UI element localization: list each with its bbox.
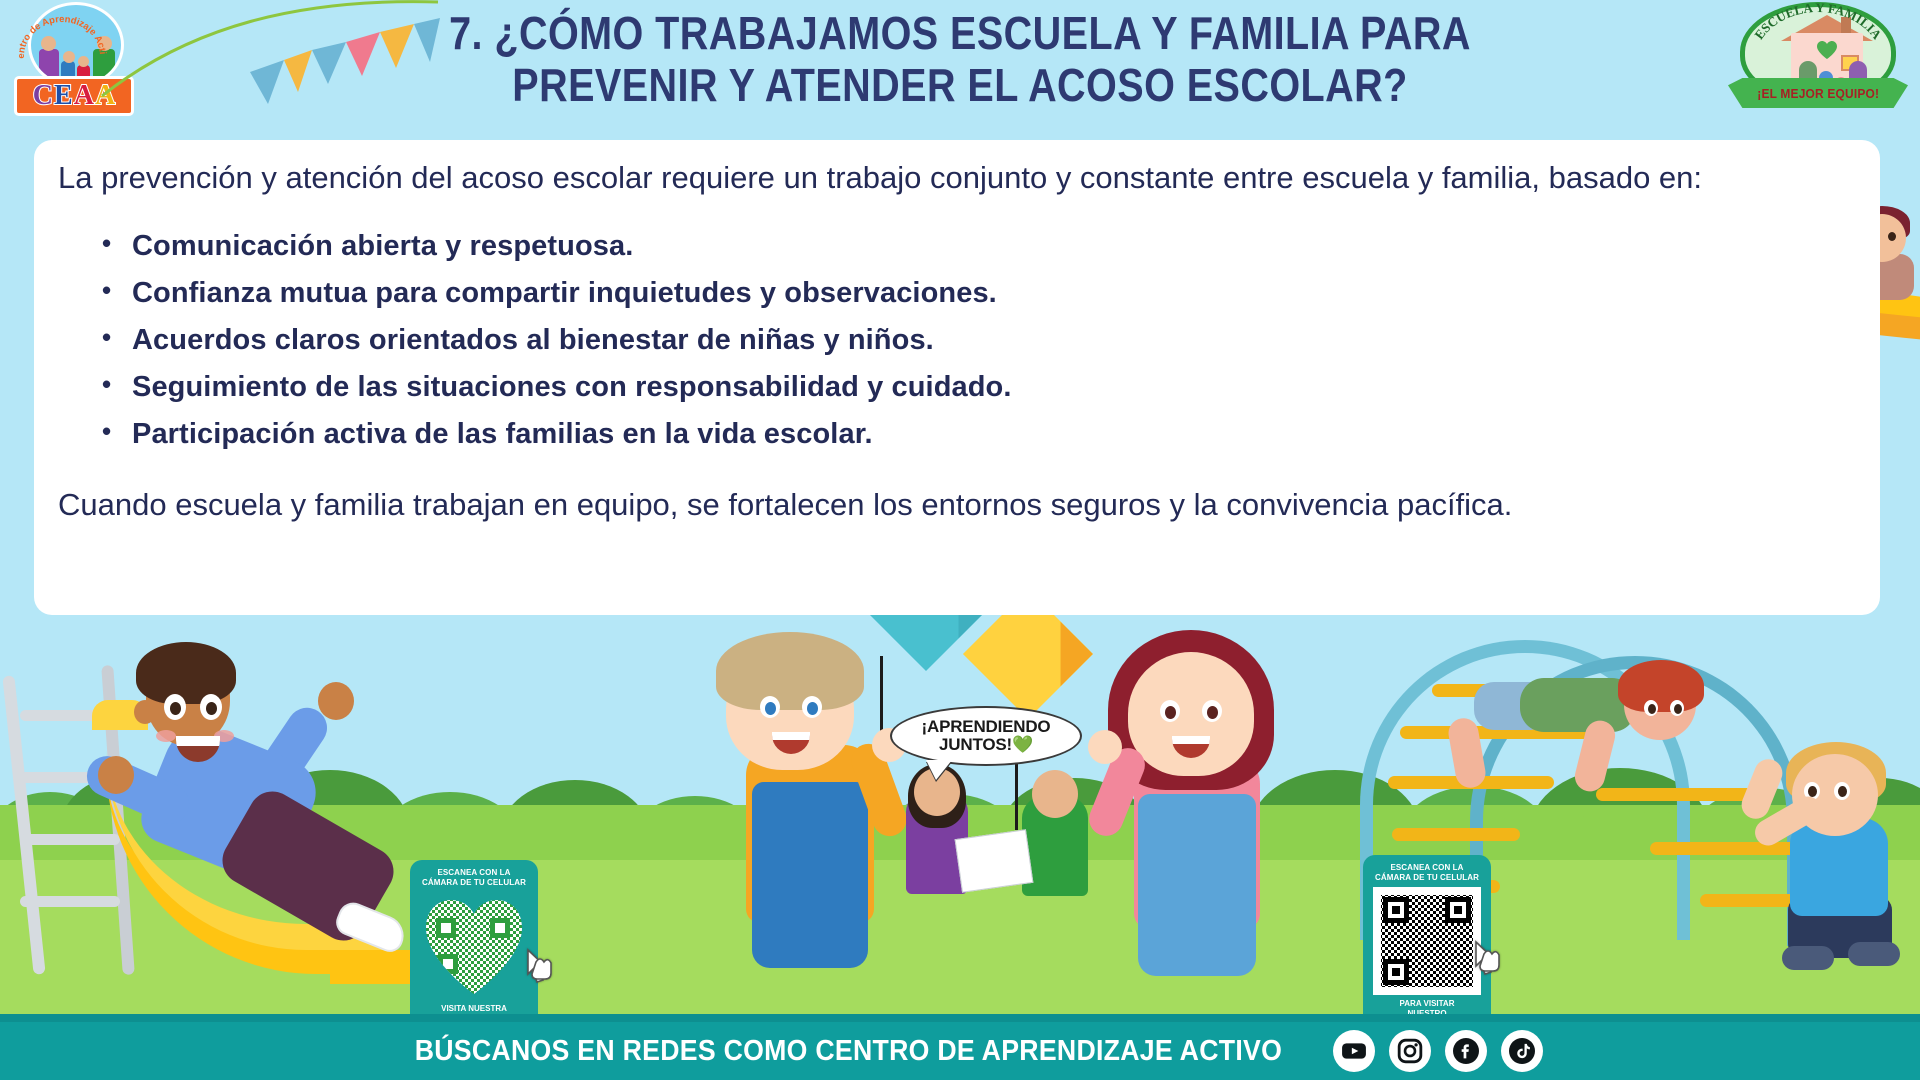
list-item: Participación activa de las familias en … [102, 420, 1856, 449]
cursor-pointer-icon-left [522, 948, 556, 990]
ceaa-letter-a1: A [74, 82, 94, 110]
teacher-pair [900, 768, 1110, 898]
intro-paragraph: La prevención y atención del acoso escol… [58, 158, 1856, 198]
list-item: Acuerdos claros orientados al bienestar … [102, 326, 1856, 355]
footer-text: BÚSCANOS EN REDES COMO CENTRO DE APRENDI… [414, 1035, 1281, 1068]
list-item: Confianza mutua para compartir inquietud… [102, 279, 1856, 308]
playground-illustration: ¡APRENDIENDO JUNTOS!💚 [0, 560, 1920, 1080]
content-card: La prevención y atención del acoso escol… [34, 140, 1880, 615]
bunting-decoration [100, 0, 440, 110]
title-line-2: PREVENIR Y ATENDER EL ACOSO ESCOLAR? [392, 60, 1527, 112]
qr-left-caption-line1: VISITA NUESTRA [416, 1004, 532, 1014]
escuela-y-familia-logo: ESCUELA Y FAMILIA ¡EL MEJOR EQUIPO! [1728, 2, 1908, 114]
list-item: Comunicación abierta y respetuosa. [102, 232, 1856, 261]
qr-right-instruction-line2: CÁMARA DE TU CELULAR [1369, 873, 1485, 883]
eyf-ribbon: ¡EL MEJOR EQUIPO! [1728, 78, 1908, 108]
page-title: 7. ¿CÓMO TRABAJAMOS ESCUELA Y FAMILIA PA… [392, 8, 1527, 111]
closing-paragraph: Cuando escuela y familia trabajan en equ… [58, 485, 1856, 525]
title-line-1: 7. ¿CÓMO TRABAJAMOS ESCUELA Y FAMILIA PA… [392, 8, 1527, 60]
qr-code-icon[interactable] [1373, 887, 1481, 995]
svg-text:Centro de Aprendizaje Activo: Centro de Aprendizaje Activo [14, 2, 108, 59]
footer-accent-strip [0, 1014, 1920, 1022]
facebook-icon[interactable] [1445, 1030, 1487, 1072]
bullet-list: Comunicación abierta y respetuosa. Confi… [58, 232, 1856, 449]
ceaa-letter-e: E [54, 82, 73, 110]
cursor-pointer-icon-right [1470, 940, 1504, 982]
footer-bar: BÚSCANOS EN REDES COMO CENTRO DE APRENDI… [0, 1022, 1920, 1080]
qr-right-caption-line1: PARA VISITAR [1369, 999, 1485, 1009]
eyf-ribbon-text: ¡EL MEJOR EQUIPO! [1757, 86, 1879, 101]
qr-left-instruction-line2: CÁMARA DE TU CELULAR [416, 878, 532, 888]
slide-canvas: ¡APRENDIENDO JUNTOS!💚 [0, 0, 1920, 1080]
qr-code-heart-icon[interactable] [420, 892, 528, 1000]
speech-bubble-text: ¡APRENDIENDO JUNTOS!💚 [892, 718, 1080, 755]
youtube-icon[interactable] [1333, 1030, 1375, 1072]
list-item: Seguimiento de las situaciones con respo… [102, 373, 1856, 402]
qr-right-instruction-line1: ESCANEA CON LA [1369, 863, 1485, 873]
qr-left-instruction-line1: ESCANEA CON LA [416, 868, 532, 878]
svg-text:ESCUELA Y FAMILIA: ESCUELA Y FAMILIA [1751, 2, 1885, 43]
speech-bubble: ¡APRENDIENDO JUNTOS!💚 [890, 706, 1082, 766]
tiktok-icon[interactable] [1501, 1030, 1543, 1072]
ceaa-arc-text: Centro de Aprendizaje Activo [14, 2, 110, 88]
instagram-icon[interactable] [1389, 1030, 1431, 1072]
ceaa-letter-c: C [33, 82, 53, 110]
slide-header: Centro de Aprendizaje Activo C E A A 7. … [0, 0, 1920, 128]
